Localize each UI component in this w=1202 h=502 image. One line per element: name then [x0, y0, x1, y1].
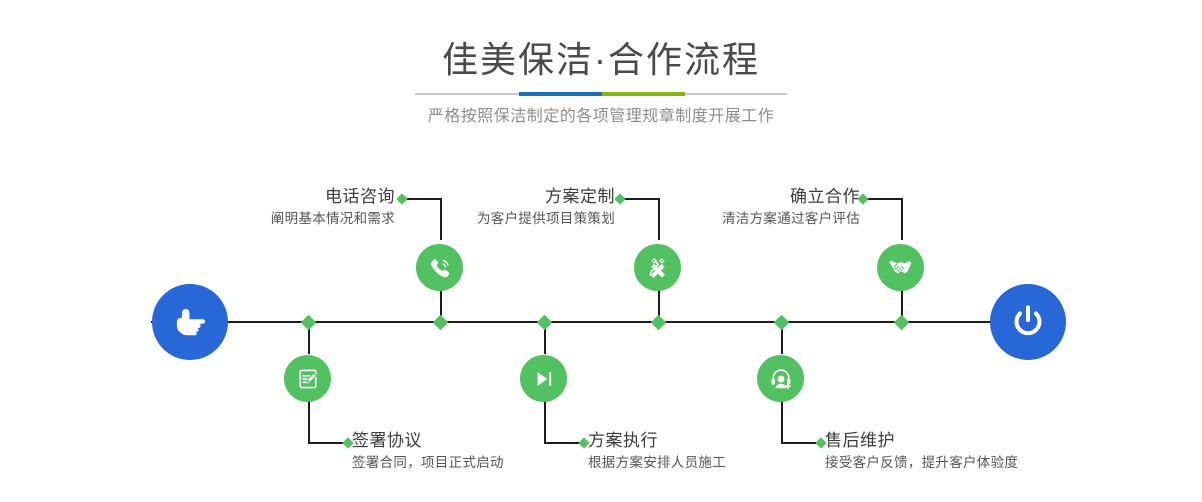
step-label-3-desc: 为客户提供项目策策划 — [340, 208, 615, 230]
play-execute-icon — [531, 366, 557, 392]
connector-vertical-5b — [901, 198, 903, 240]
axis-diamond-5 — [894, 315, 910, 331]
step-label-6-desc: 接受客户反馈，提升客户体验度 — [825, 452, 1185, 474]
axis-diamond-4 — [537, 315, 553, 331]
step-label-6-title: 售后维护 — [825, 430, 1185, 452]
flow-diagram-canvas: 佳美保洁·合作流程 严格按照保洁制定的各项管理规章制度开展工作 — [0, 0, 1202, 502]
step-node-6[interactable] — [757, 355, 804, 402]
step-node-1[interactable] — [416, 244, 463, 291]
connector-vertical-4b — [544, 401, 546, 443]
connector-horizontal-5 — [863, 198, 903, 200]
step-node-3[interactable] — [634, 244, 681, 291]
connector-vertical-2b — [308, 401, 310, 443]
axis-diamond-3 — [651, 315, 667, 331]
headset-support-icon — [768, 366, 794, 392]
connector-vertical-6b — [781, 401, 783, 443]
axis-diamond-6 — [774, 315, 790, 331]
connector-vertical-3b — [658, 198, 660, 240]
connector-horizontal-3 — [620, 198, 660, 200]
power-icon — [1006, 300, 1050, 344]
divider-green-segment — [602, 92, 685, 96]
axis-diamond-2 — [301, 315, 317, 331]
step-label-3: 方案定制 为客户提供项目策策划 — [340, 186, 615, 230]
pointing-hand-icon — [169, 301, 211, 343]
page-subtitle: 严格按照保洁制定的各项管理规章制度开展工作 — [0, 105, 1202, 129]
page-title: 佳美保洁·合作流程 — [0, 38, 1202, 82]
phone-call-icon — [427, 255, 453, 281]
connector-horizontal-1 — [402, 198, 442, 200]
timeline-start-node[interactable] — [152, 284, 228, 360]
connector-vertical-1b — [440, 198, 442, 240]
step-node-4[interactable] — [520, 355, 567, 402]
handshake-icon — [887, 254, 914, 281]
step-label-5-desc: 清洁方案通过客户评估 — [585, 208, 860, 230]
step-label-5: 确立合作 清洁方案通过客户评估 — [585, 186, 860, 230]
axis-diamond-1 — [433, 315, 449, 331]
timeline-axis — [151, 321, 1051, 323]
title-divider — [415, 93, 787, 95]
divider-blue-segment — [519, 92, 602, 96]
step-node-5[interactable] — [877, 244, 924, 291]
step-label-6: 售后维护 接受客户反馈，提升客户体验度 — [825, 430, 1185, 474]
step-label-3-title: 方案定制 — [340, 186, 615, 208]
step-label-5-title: 确立合作 — [585, 186, 860, 208]
document-pen-icon — [295, 366, 321, 392]
timeline-end-node[interactable] — [990, 284, 1066, 360]
step-node-2[interactable] — [284, 355, 331, 402]
pencil-ruler-icon — [645, 255, 671, 281]
